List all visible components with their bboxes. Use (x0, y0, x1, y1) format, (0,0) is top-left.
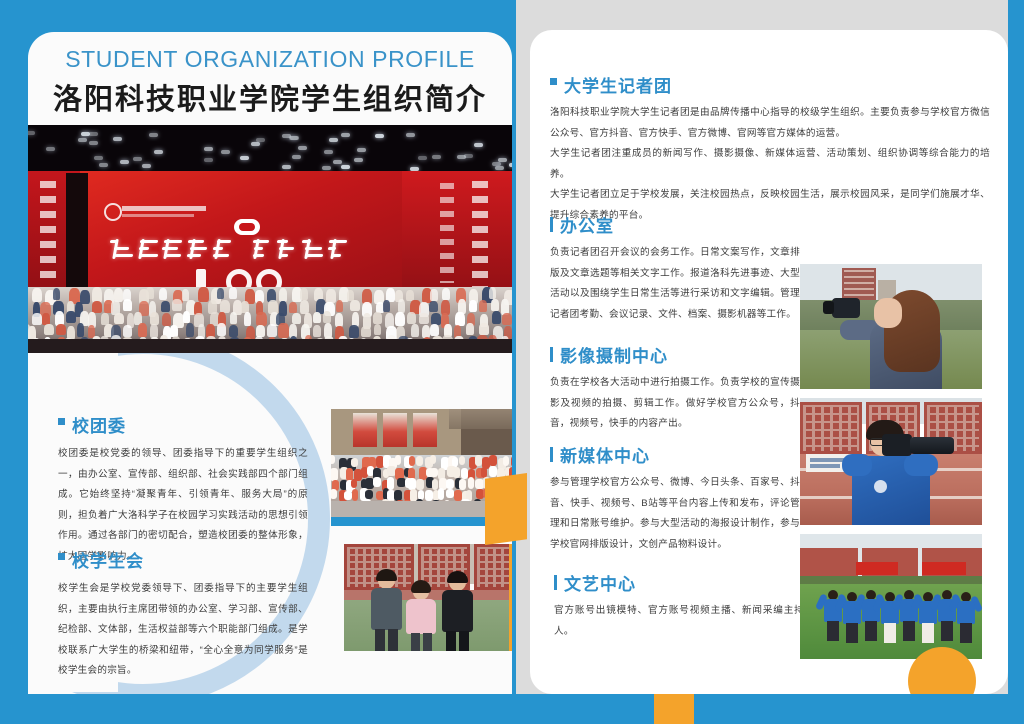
bar-bullet-icon (554, 575, 557, 590)
team-cheering-photo (800, 534, 982, 659)
paragraph: 官方账号出镜模特、官方账号视频主播、新闻采编主持人。 (554, 601, 804, 642)
section-arts-center: 文艺中心 官方账号出镜模特、官方账号视频主播、新闻采编主持人。 (554, 570, 804, 642)
heading-text: 文艺中心 (564, 570, 636, 595)
section-heading-video-production: 影像摄制中心 (550, 342, 800, 367)
section-heading-arts-center: 文艺中心 (554, 570, 804, 595)
assembly-hall-photo (331, 409, 512, 517)
paragraph: 参与管理学校官方公众号、微博、今日头条、百家号、抖音、快手、视频号、B站等平台内… (550, 473, 800, 555)
heading-text: 大学生记者团 (564, 72, 672, 97)
right-content-card: 大学生记者团 洛阳科技职业学院大学生记者团是由品牌传播中心指导的校级学生组织。主… (530, 30, 1008, 694)
square-bullet-icon (550, 78, 557, 85)
heading-text: 新媒体中心 (560, 442, 650, 467)
section-office: 办公室 负责记者团召开会议的会务工作。日常文案写作，文章排版及文章选题等相关文字… (550, 212, 800, 325)
bar-bullet-icon (550, 217, 553, 232)
bar-bullet-icon (550, 447, 553, 462)
students-on-field-photo (344, 544, 509, 651)
bar-bullet-icon (550, 347, 553, 362)
section-body-student-union: 校学生会是学校党委领导下、团委指导下的主要学生组织，主要由执行主席团带领的办公室… (58, 579, 308, 682)
photo-orange-strip (509, 544, 512, 651)
boy-photographer-photo (800, 398, 982, 525)
section-student-union: 校学生会 校学生会是学校党委领导下、团委指导下的主要学生组织，主要由执行主席团带… (58, 547, 308, 682)
girl-photographer-photo (800, 264, 982, 389)
section-heading-office: 办公室 (550, 212, 800, 237)
section-heading-student-union: 校学生会 (58, 547, 308, 572)
page-title-english: STUDENT ORGANIZATION PROFILE (28, 46, 512, 73)
left-content-card: STUDENT ORGANIZATION PROFILE 洛阳科技职业学院学生组… (28, 32, 512, 694)
section-video-production-center: 影像摄制中心 负责在学校各大活动中进行拍摄工作。负责学校的宣传摄影及视频的拍摄、… (550, 342, 800, 435)
paragraph: 洛阳科技职业学院大学生记者团是由品牌传播中心指导的校级学生组织。主要负责参与学校… (550, 103, 990, 144)
orange-bottom-bar-accent (654, 694, 694, 724)
section-student-reporters: 大学生记者团 洛阳科技职业学院大学生记者团是由品牌传播中心指导的校级学生组织。主… (550, 72, 990, 226)
square-bullet-icon (58, 418, 65, 425)
orange-seam-accent (485, 473, 527, 545)
section-new-media-center: 新媒体中心 参与管理学校官方公众号、微博、今日头条、百家号、抖音、快手、视频号、… (550, 442, 800, 555)
poster-canvas: STUDENT ORGANIZATION PROFILE 洛阳科技职业学院学生组… (0, 0, 1024, 724)
right-blue-edge (1008, 0, 1024, 724)
heading-text: 校学生会 (72, 547, 144, 572)
stage-assembly-photo (28, 125, 512, 353)
page-title-chinese: 洛阳科技职业学院学生组织简介 (28, 76, 512, 118)
bottom-blue-band (516, 694, 1024, 724)
section-school-youth-league: 校团委 校团委是校党委的领导、团委指导下的重要学生组织之一，由办公室、宣传部、组… (58, 412, 308, 567)
paragraph: 大学生记者团注重成员的新闻写作、摄影摄像、新媒体运营、活动策划、组织协调等综合能… (550, 144, 990, 185)
paragraph: 负责记者团召开会议的会务工作。日常文案写作，文章排版及文章选题等相关文字工作。报… (550, 243, 800, 325)
photo-blue-underline (331, 517, 512, 526)
section-heading-new-media: 新媒体中心 (550, 442, 800, 467)
heading-text: 影像摄制中心 (560, 342, 668, 367)
paragraph: 负责在学校各大活动中进行拍摄工作。负责学校的宣传摄影及视频的拍摄、剪辑工作。做好… (550, 373, 800, 435)
section-heading-youth-league: 校团委 (58, 412, 308, 437)
heading-text: 校团委 (72, 412, 126, 437)
section-heading-student-reporters: 大学生记者团 (550, 72, 990, 97)
heading-text: 办公室 (560, 212, 614, 237)
square-bullet-icon (58, 553, 65, 560)
